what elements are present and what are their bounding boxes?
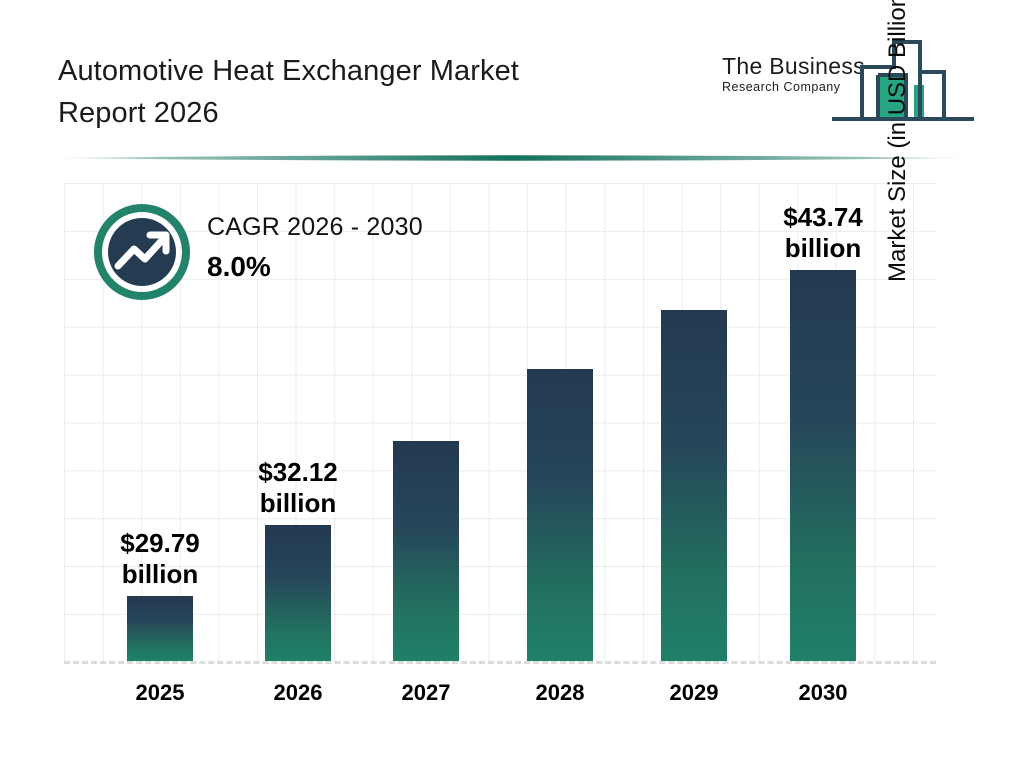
bar-2027[interactable] bbox=[393, 441, 459, 661]
y-axis-title: Market Size (in USD Billion) bbox=[884, 0, 912, 282]
bar-2026[interactable] bbox=[265, 525, 331, 661]
header-divider bbox=[48, 152, 976, 164]
bar-2030[interactable] bbox=[790, 270, 856, 661]
axis-baseline bbox=[64, 661, 936, 664]
bar-value-2026: $32.12 billion bbox=[223, 457, 373, 518]
bar-2028[interactable] bbox=[527, 369, 593, 661]
x-label-2028: 2028 bbox=[495, 680, 625, 706]
bar-2025[interactable] bbox=[127, 596, 193, 661]
x-label-2029: 2029 bbox=[629, 680, 759, 706]
cagr-text-block: CAGR 2026 - 2030 8.0% bbox=[207, 211, 507, 285]
cagr-value: 8.0% bbox=[207, 248, 507, 286]
bar-group-2029[interactable] bbox=[661, 164, 727, 661]
cagr-badge: CAGR 2026 - 2030 8.0% bbox=[94, 204, 514, 312]
header: Automotive Heat Exchanger Market Report … bbox=[0, 0, 1024, 152]
x-label-2027: 2027 bbox=[361, 680, 491, 706]
x-label-2026: 2026 bbox=[233, 680, 363, 706]
bar-group-2028[interactable] bbox=[527, 164, 593, 661]
page-title: Automotive Heat Exchanger Market Report … bbox=[58, 50, 678, 134]
company-logo: The Business Research Company bbox=[722, 34, 974, 130]
bar-chart: $29.79 billion $32.12 billion $43.74 bil… bbox=[0, 164, 1024, 768]
bar-2029[interactable] bbox=[661, 310, 727, 661]
x-label-2025: 2025 bbox=[95, 680, 225, 706]
x-label-2030: 2030 bbox=[758, 680, 888, 706]
bar-group-2030[interactable]: $43.74 billion bbox=[790, 164, 856, 661]
trending-up-icon bbox=[94, 204, 190, 300]
bar-value-2025: $29.79 billion bbox=[85, 528, 235, 589]
bar-value-2030: $43.74 billion bbox=[748, 202, 898, 263]
cagr-label: CAGR 2026 - 2030 bbox=[207, 211, 507, 244]
